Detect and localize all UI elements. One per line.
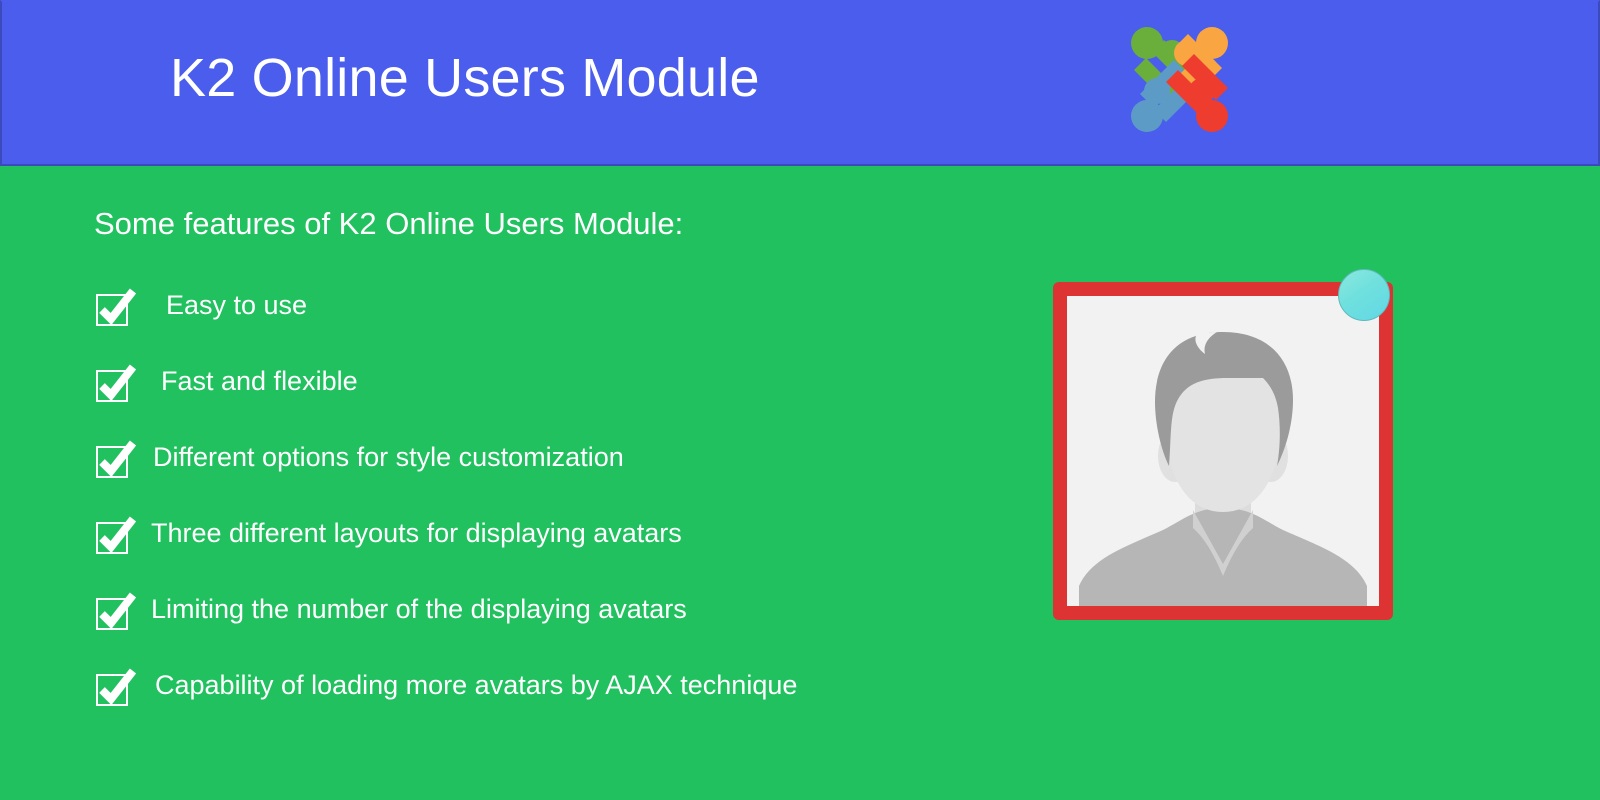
header-bar: K2 Online Users Module [0, 0, 1600, 166]
feature-item: Different options for style customizatio… [94, 432, 994, 508]
user-avatar-card [1053, 282, 1393, 620]
checkbox-checked-icon [94, 362, 136, 404]
features-heading: Some features of K2 Online Users Module: [94, 206, 683, 242]
page-title: K2 Online Users Module [170, 50, 760, 107]
features-list: Easy to use Fast and flexible [94, 280, 994, 736]
feature-label: Fast and flexible [161, 364, 358, 398]
checkbox-checked-icon [94, 590, 136, 632]
checkbox-checked-icon [94, 666, 136, 708]
feature-item: Limiting the number of the displaying av… [94, 584, 994, 660]
feature-label: Capability of loading more avatars by AJ… [155, 668, 797, 702]
online-status-dot [1338, 269, 1390, 321]
checkbox-checked-icon [94, 514, 136, 556]
feature-label: Different options for style customizatio… [153, 440, 624, 474]
checkbox-checked-icon [94, 438, 136, 480]
joomla-logo [1124, 20, 1234, 140]
feature-label: Limiting the number of the displaying av… [151, 592, 687, 626]
feature-label: Three different layouts for displaying a… [151, 516, 682, 550]
feature-item: Fast and flexible [94, 356, 994, 432]
feature-item: Capability of loading more avatars by AJ… [94, 660, 994, 736]
feature-label: Easy to use [166, 288, 307, 322]
feature-item: Easy to use [94, 280, 994, 356]
checkbox-checked-icon [94, 286, 136, 328]
feature-item: Three different layouts for displaying a… [94, 508, 994, 584]
avatar-photo [1067, 296, 1379, 606]
slide-canvas: K2 Online Users Module [0, 0, 1600, 800]
